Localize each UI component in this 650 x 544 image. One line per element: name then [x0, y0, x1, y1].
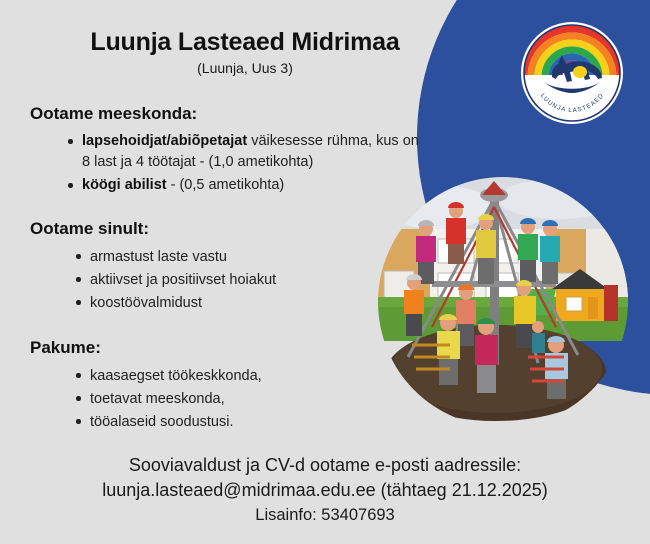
list-item-text: tööalaseid soodustusi. — [90, 414, 234, 430]
list-item: köögi abilist - (0,5 ametikohta) — [82, 175, 430, 196]
bullet-list: lapsehoidjat/abiõpetajat väikesesse rühm… — [30, 131, 430, 196]
section-heading: Ootame meeskonda: — [30, 104, 430, 124]
list-item-text: aktiivset ja positiivset hoiakut — [90, 272, 276, 288]
list-item-text: toetavat meeskonda, — [90, 391, 225, 407]
section-team: Ootame meeskonda: lapsehoidjat/abiõpetaj… — [30, 104, 430, 198]
section-heading: Ootame sinult: — [30, 219, 360, 239]
kindergarten-logo: LUUNJA LASTEAED MIDRIMAA — [518, 19, 626, 127]
page-subtitle: (Luunja, Uus 3) — [0, 60, 490, 76]
bullet-list: armastust laste vastu aktiivset ja posit… — [30, 246, 360, 314]
list-item: lapsehoidjat/abiõpetajat väikesesse rühm… — [82, 131, 430, 173]
list-item-text: kaasaegset töökeskkonda, — [90, 368, 262, 384]
list-item-bold: lapsehoidjat/abiõpetajat — [82, 133, 247, 149]
page-title: Luunja Lasteaed Midrimaa — [0, 28, 490, 57]
list-item: tööalaseid soodustusi. — [90, 411, 360, 433]
list-item: toetavat meeskonda, — [90, 388, 360, 410]
footer-line-1: Sooviavaldust ja CV-d ootame e-posti aad… — [0, 453, 650, 478]
bullet-list: kaasaegset töökeskkonda, toetavat meesko… — [30, 365, 360, 433]
list-item: armastust laste vastu — [90, 246, 360, 268]
job-advertisement-poster: LUUNJA LASTEAED MIDRIMAA Luunja Lasteaed… — [0, 0, 650, 544]
contact-footer: Sooviavaldust ja CV-d ootame e-posti aad… — [0, 453, 650, 528]
list-item-text: koostöövalmidust — [90, 295, 202, 311]
list-item-bold: köögi abilist — [82, 177, 167, 193]
list-item: aktiivset ja positiivset hoiakut — [90, 269, 360, 291]
section-expectations: Ootame sinult: armastust laste vastu akt… — [30, 219, 360, 315]
section-heading: Pakume: — [30, 338, 360, 358]
section-offer: Pakume: kaasaegset töökeskkonda, toetava… — [30, 338, 360, 434]
footer-phone-line: Lisainfo: 53407693 — [0, 503, 650, 528]
list-item-text: armastust laste vastu — [90, 249, 227, 265]
list-item-text: - (0,5 ametikohta) — [167, 177, 285, 193]
footer-email-line: luunja.lasteaed@midrimaa.edu.ee (tähtaeg… — [0, 478, 650, 503]
list-item: koostöövalmidust — [90, 292, 360, 314]
list-item: kaasaegset töökeskkonda, — [90, 365, 360, 387]
staff-photo — [378, 177, 628, 427]
